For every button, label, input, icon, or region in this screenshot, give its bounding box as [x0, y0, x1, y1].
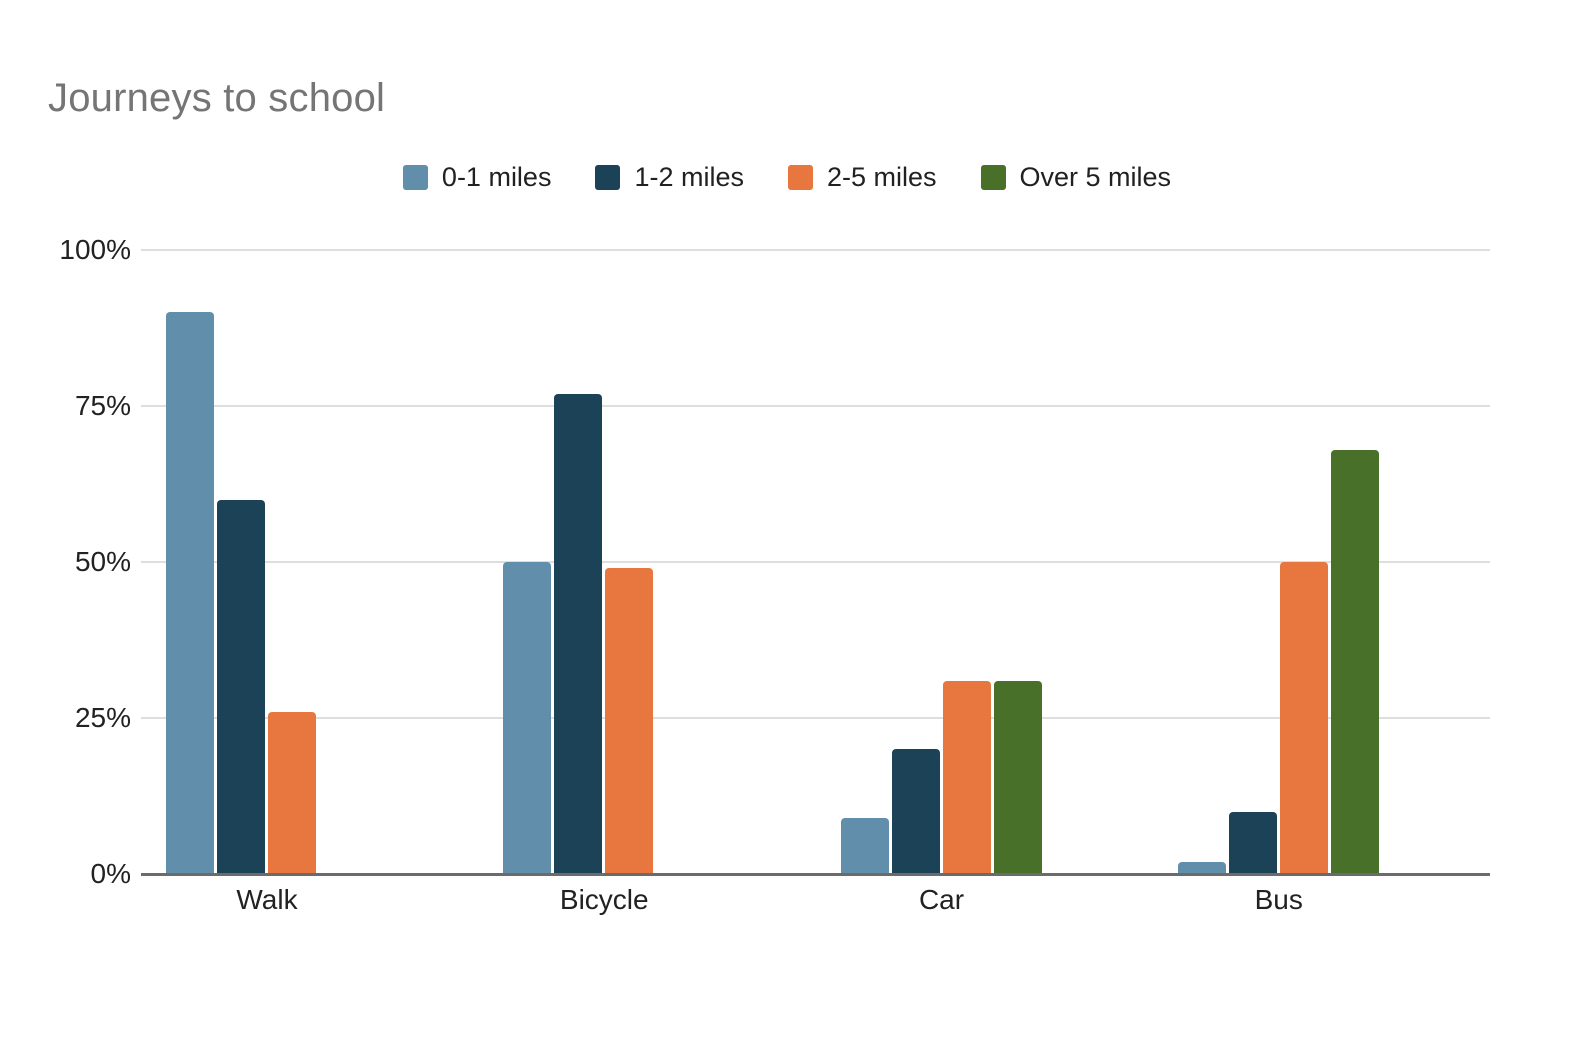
y-axis-tick-label: 25% — [75, 702, 131, 734]
y-axis-tick-label: 100% — [59, 234, 131, 266]
legend-item-2[interactable]: 2-5 miles — [788, 162, 937, 193]
bar-group-bicycle — [478, 250, 815, 874]
y-axis-tick-label: 50% — [75, 546, 131, 578]
legend-swatch-icon — [403, 165, 428, 190]
legend-swatch-icon — [788, 165, 813, 190]
chart-title: Journeys to school — [48, 76, 385, 121]
legend-item-label: 2-5 miles — [827, 162, 937, 193]
legend-item-3[interactable]: Over 5 miles — [981, 162, 1172, 193]
bar-car-series-3[interactable] — [994, 681, 1042, 874]
bar-car-series-2[interactable] — [943, 681, 991, 874]
bar-car-series-0[interactable] — [841, 818, 889, 874]
x-axis-label-walk: Walk — [166, 884, 368, 916]
x-label-cell: Bicycle — [478, 884, 815, 916]
legend-item-label: 1-2 miles — [634, 162, 744, 193]
bar-bus-series-1[interactable] — [1229, 812, 1277, 874]
bar-bus-series-3[interactable] — [1331, 450, 1379, 874]
bar-bicycle-series-1[interactable] — [554, 394, 602, 874]
legend-swatch-icon — [981, 165, 1006, 190]
bar-walk-series-2[interactable] — [268, 712, 316, 874]
bar-walk-series-1[interactable] — [217, 500, 265, 874]
bar-bicycle-series-2[interactable] — [605, 568, 653, 874]
y-axis-tick-label: 75% — [75, 390, 131, 422]
y-axis-tick-labels: 0%25%50%75%100% — [0, 250, 131, 874]
x-axis-label-bicycle: Bicycle — [503, 884, 705, 916]
legend-item-label: 0-1 miles — [442, 162, 552, 193]
legend-item-0[interactable]: 0-1 miles — [403, 162, 552, 193]
plot-area — [141, 250, 1490, 874]
y-axis-tick-label: 0% — [91, 858, 131, 890]
x-label-cell: Bus — [1153, 884, 1490, 916]
bar-bicycle-series-0[interactable] — [503, 562, 551, 874]
x-axis-line — [141, 873, 1490, 876]
bar-group-car — [816, 250, 1153, 874]
x-axis-label-car: Car — [841, 884, 1043, 916]
bar-groups — [141, 250, 1490, 874]
bar-group-walk — [141, 250, 478, 874]
bar-bus-series-2[interactable] — [1280, 562, 1328, 874]
bar-car-series-1[interactable] — [892, 749, 940, 874]
x-label-cell: Car — [816, 884, 1153, 916]
bar-chart: Journeys to school 0-1 miles1-2 miles2-5… — [0, 0, 1574, 1048]
bar-walk-series-0[interactable] — [166, 312, 214, 874]
legend-item-label: Over 5 miles — [1020, 162, 1172, 193]
x-axis-category-labels: WalkBicycleCarBus — [141, 884, 1490, 916]
chart-legend: 0-1 miles1-2 miles2-5 milesOver 5 miles — [0, 162, 1574, 193]
legend-swatch-icon — [595, 165, 620, 190]
bar-group-bus — [1153, 250, 1490, 874]
legend-item-1[interactable]: 1-2 miles — [595, 162, 744, 193]
x-axis-label-bus: Bus — [1178, 884, 1380, 916]
x-label-cell: Walk — [141, 884, 478, 916]
